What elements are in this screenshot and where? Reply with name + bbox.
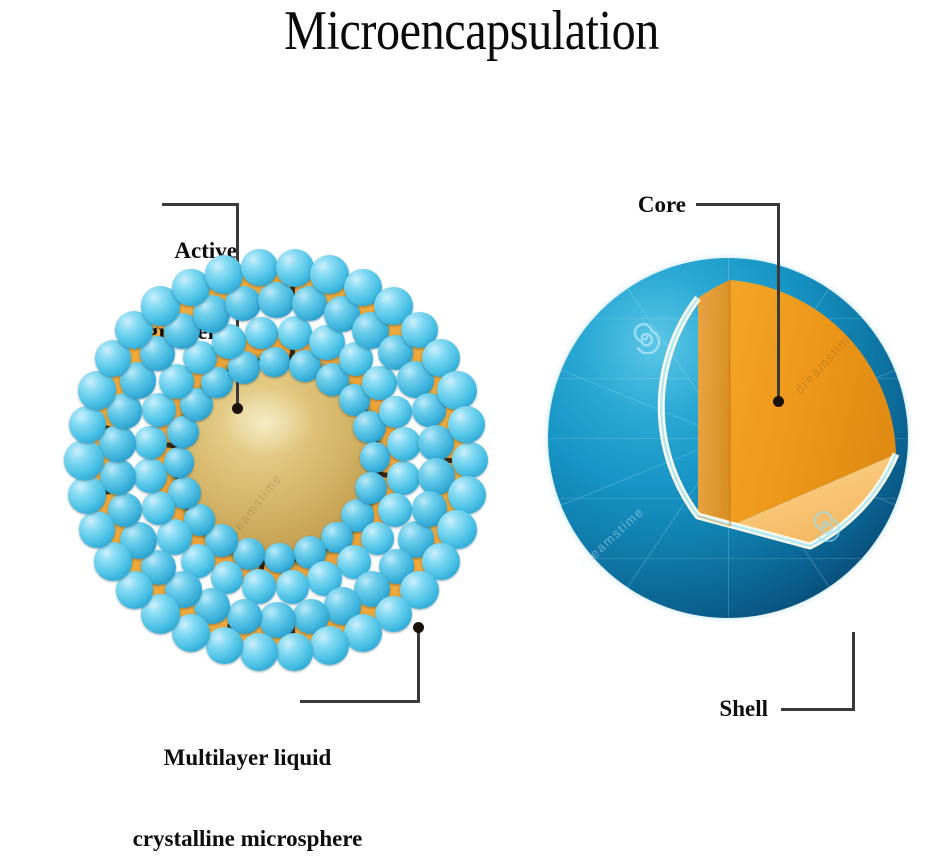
cutaway-wedge [548, 258, 908, 618]
lipid-head-bead [362, 366, 397, 401]
lipid-head-bead [448, 406, 485, 443]
lipid-head-bead [448, 476, 486, 514]
lipid-head-bead [276, 249, 314, 287]
lipid-head-bead [310, 626, 349, 665]
lipid-head-bead [387, 461, 420, 494]
diagram-canvas: Microencapsulation dreamstime [0, 0, 943, 867]
lipid-head-bead [134, 426, 167, 459]
core-shell-sphere-figure: dreamstime dreamstime [548, 258, 908, 618]
leader-multilayer-vertical [417, 628, 420, 703]
lipid-head-bead [64, 440, 103, 479]
lipid-head-bead [387, 427, 421, 461]
page-title: Microencapsulation [66, 0, 877, 62]
lipid-head-bead [142, 491, 175, 524]
leader-core-vertical [777, 203, 780, 401]
leader-dot-core [773, 396, 784, 407]
leader-shell-horizontal [781, 708, 855, 711]
label-multilayer-microsphere: Multilayer liquid crystalline microspher… [100, 690, 395, 867]
lipid-head-bead [133, 458, 168, 493]
lipid-head-bead [245, 317, 278, 350]
lipid-head-bead [437, 371, 476, 410]
lipid-head-bead [258, 282, 295, 319]
lipid-head-bead [276, 570, 309, 603]
lipid-head-bead [68, 476, 106, 514]
lipid-head-bead [205, 255, 244, 294]
lipid-head-bead [276, 633, 313, 670]
label-multilayer-line2: crystalline microsphere [100, 825, 395, 852]
leader-dot-active-ingredients [232, 403, 243, 414]
lipid-head-bead [379, 396, 412, 429]
lipid-head-bead [259, 347, 290, 378]
lipid-head-bead [69, 406, 106, 443]
label-shell: Shell [700, 696, 768, 722]
core-face-left [698, 280, 730, 526]
leader-shell-vertical [852, 632, 855, 710]
lipid-head-bead [206, 627, 243, 664]
lipid-head-bead [278, 316, 312, 350]
lipid-head-bead [452, 442, 489, 479]
lipid-head-bead [360, 442, 391, 473]
label-multilayer-line1: Multilayer liquid [100, 744, 395, 771]
lipid-head-bead [157, 519, 192, 554]
lipid-head-bead [241, 249, 278, 286]
leader-multilayer-horizontal [300, 700, 420, 703]
lipid-head-bead [264, 543, 295, 574]
leader-dot-multilayer [413, 622, 424, 633]
leader-core-horizontal [696, 203, 780, 206]
lipid-head-bead [240, 633, 279, 672]
leader-active-ingredients-horizontal [162, 203, 239, 206]
lipid-head-bead [344, 614, 382, 652]
label-core: Core [600, 192, 686, 218]
lipid-head-bead [94, 542, 133, 581]
